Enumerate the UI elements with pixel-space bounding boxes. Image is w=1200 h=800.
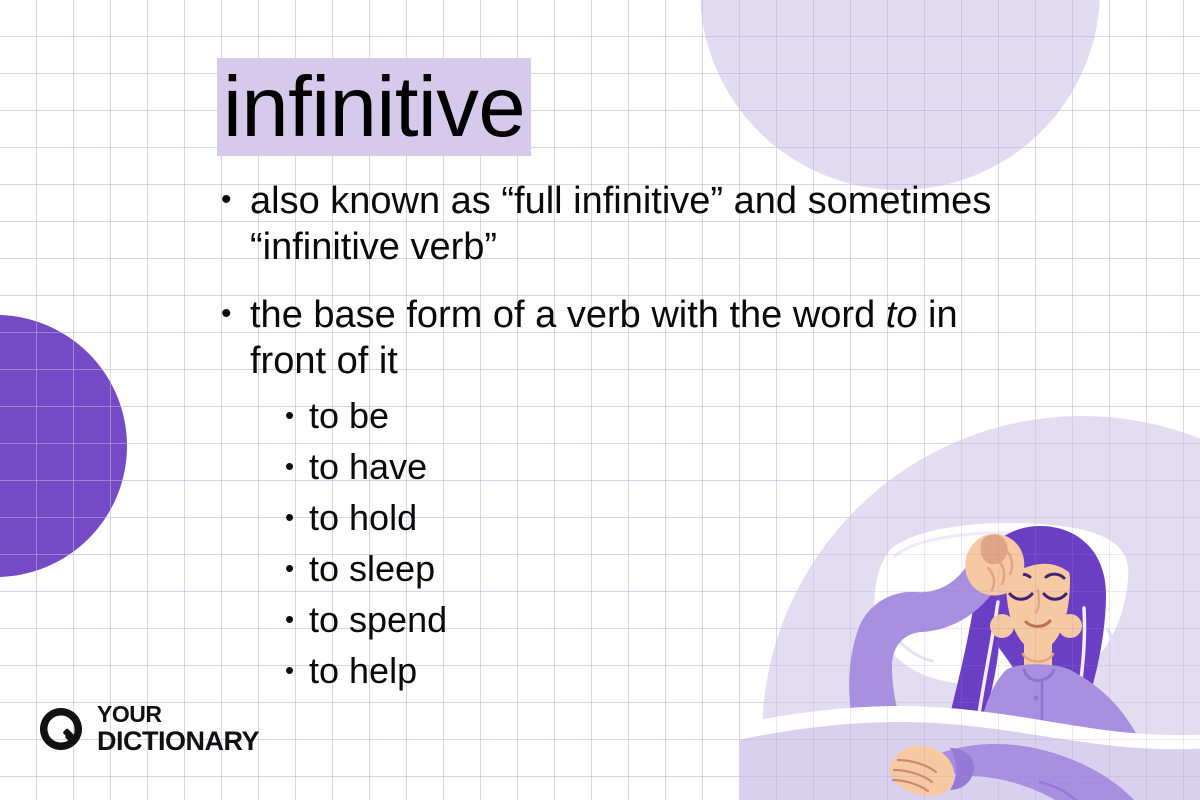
page-title: infinitive bbox=[217, 58, 531, 156]
title-highlight: infinitive bbox=[217, 58, 531, 156]
definition-text-1: also known as “full infinitive” and some… bbox=[250, 180, 991, 268]
example-item-5: to spend bbox=[283, 594, 1003, 645]
definition-text-2-before: the base form of a verb with the word bbox=[250, 294, 886, 336]
q-ring-icon bbox=[38, 706, 84, 752]
example-item-2: to have bbox=[283, 441, 1003, 492]
definition-list: also known as “full infinitive” and some… bbox=[213, 178, 1003, 696]
definition-content: also known as “full infinitive” and some… bbox=[213, 178, 1003, 718]
logo-line-your: YOUR bbox=[97, 703, 259, 726]
definition-item-1: also known as “full infinitive” and some… bbox=[213, 178, 1003, 270]
definition-text-2-italic: to bbox=[886, 294, 918, 336]
decorative-circle-left-purple bbox=[0, 315, 127, 577]
logo-line-dictionary: DICTIONARY bbox=[97, 728, 259, 755]
example-item-6: to help bbox=[283, 645, 1003, 696]
decorative-circle-top bbox=[700, 0, 1100, 190]
definition-item-2: the base form of a verb with the word to… bbox=[213, 292, 1003, 696]
example-item-4: to sleep bbox=[283, 543, 1003, 594]
yourdictionary-logo[interactable]: YOUR DICTIONARY bbox=[38, 703, 259, 755]
infographic-canvas: infinitive also known as “full infinitiv… bbox=[0, 0, 1200, 800]
example-item-1: to be bbox=[283, 390, 1003, 441]
example-item-3: to hold bbox=[283, 492, 1003, 543]
example-list: to be to have to hold to sleep to spend … bbox=[250, 390, 1003, 696]
logo-wordmark: YOUR DICTIONARY bbox=[97, 703, 259, 755]
